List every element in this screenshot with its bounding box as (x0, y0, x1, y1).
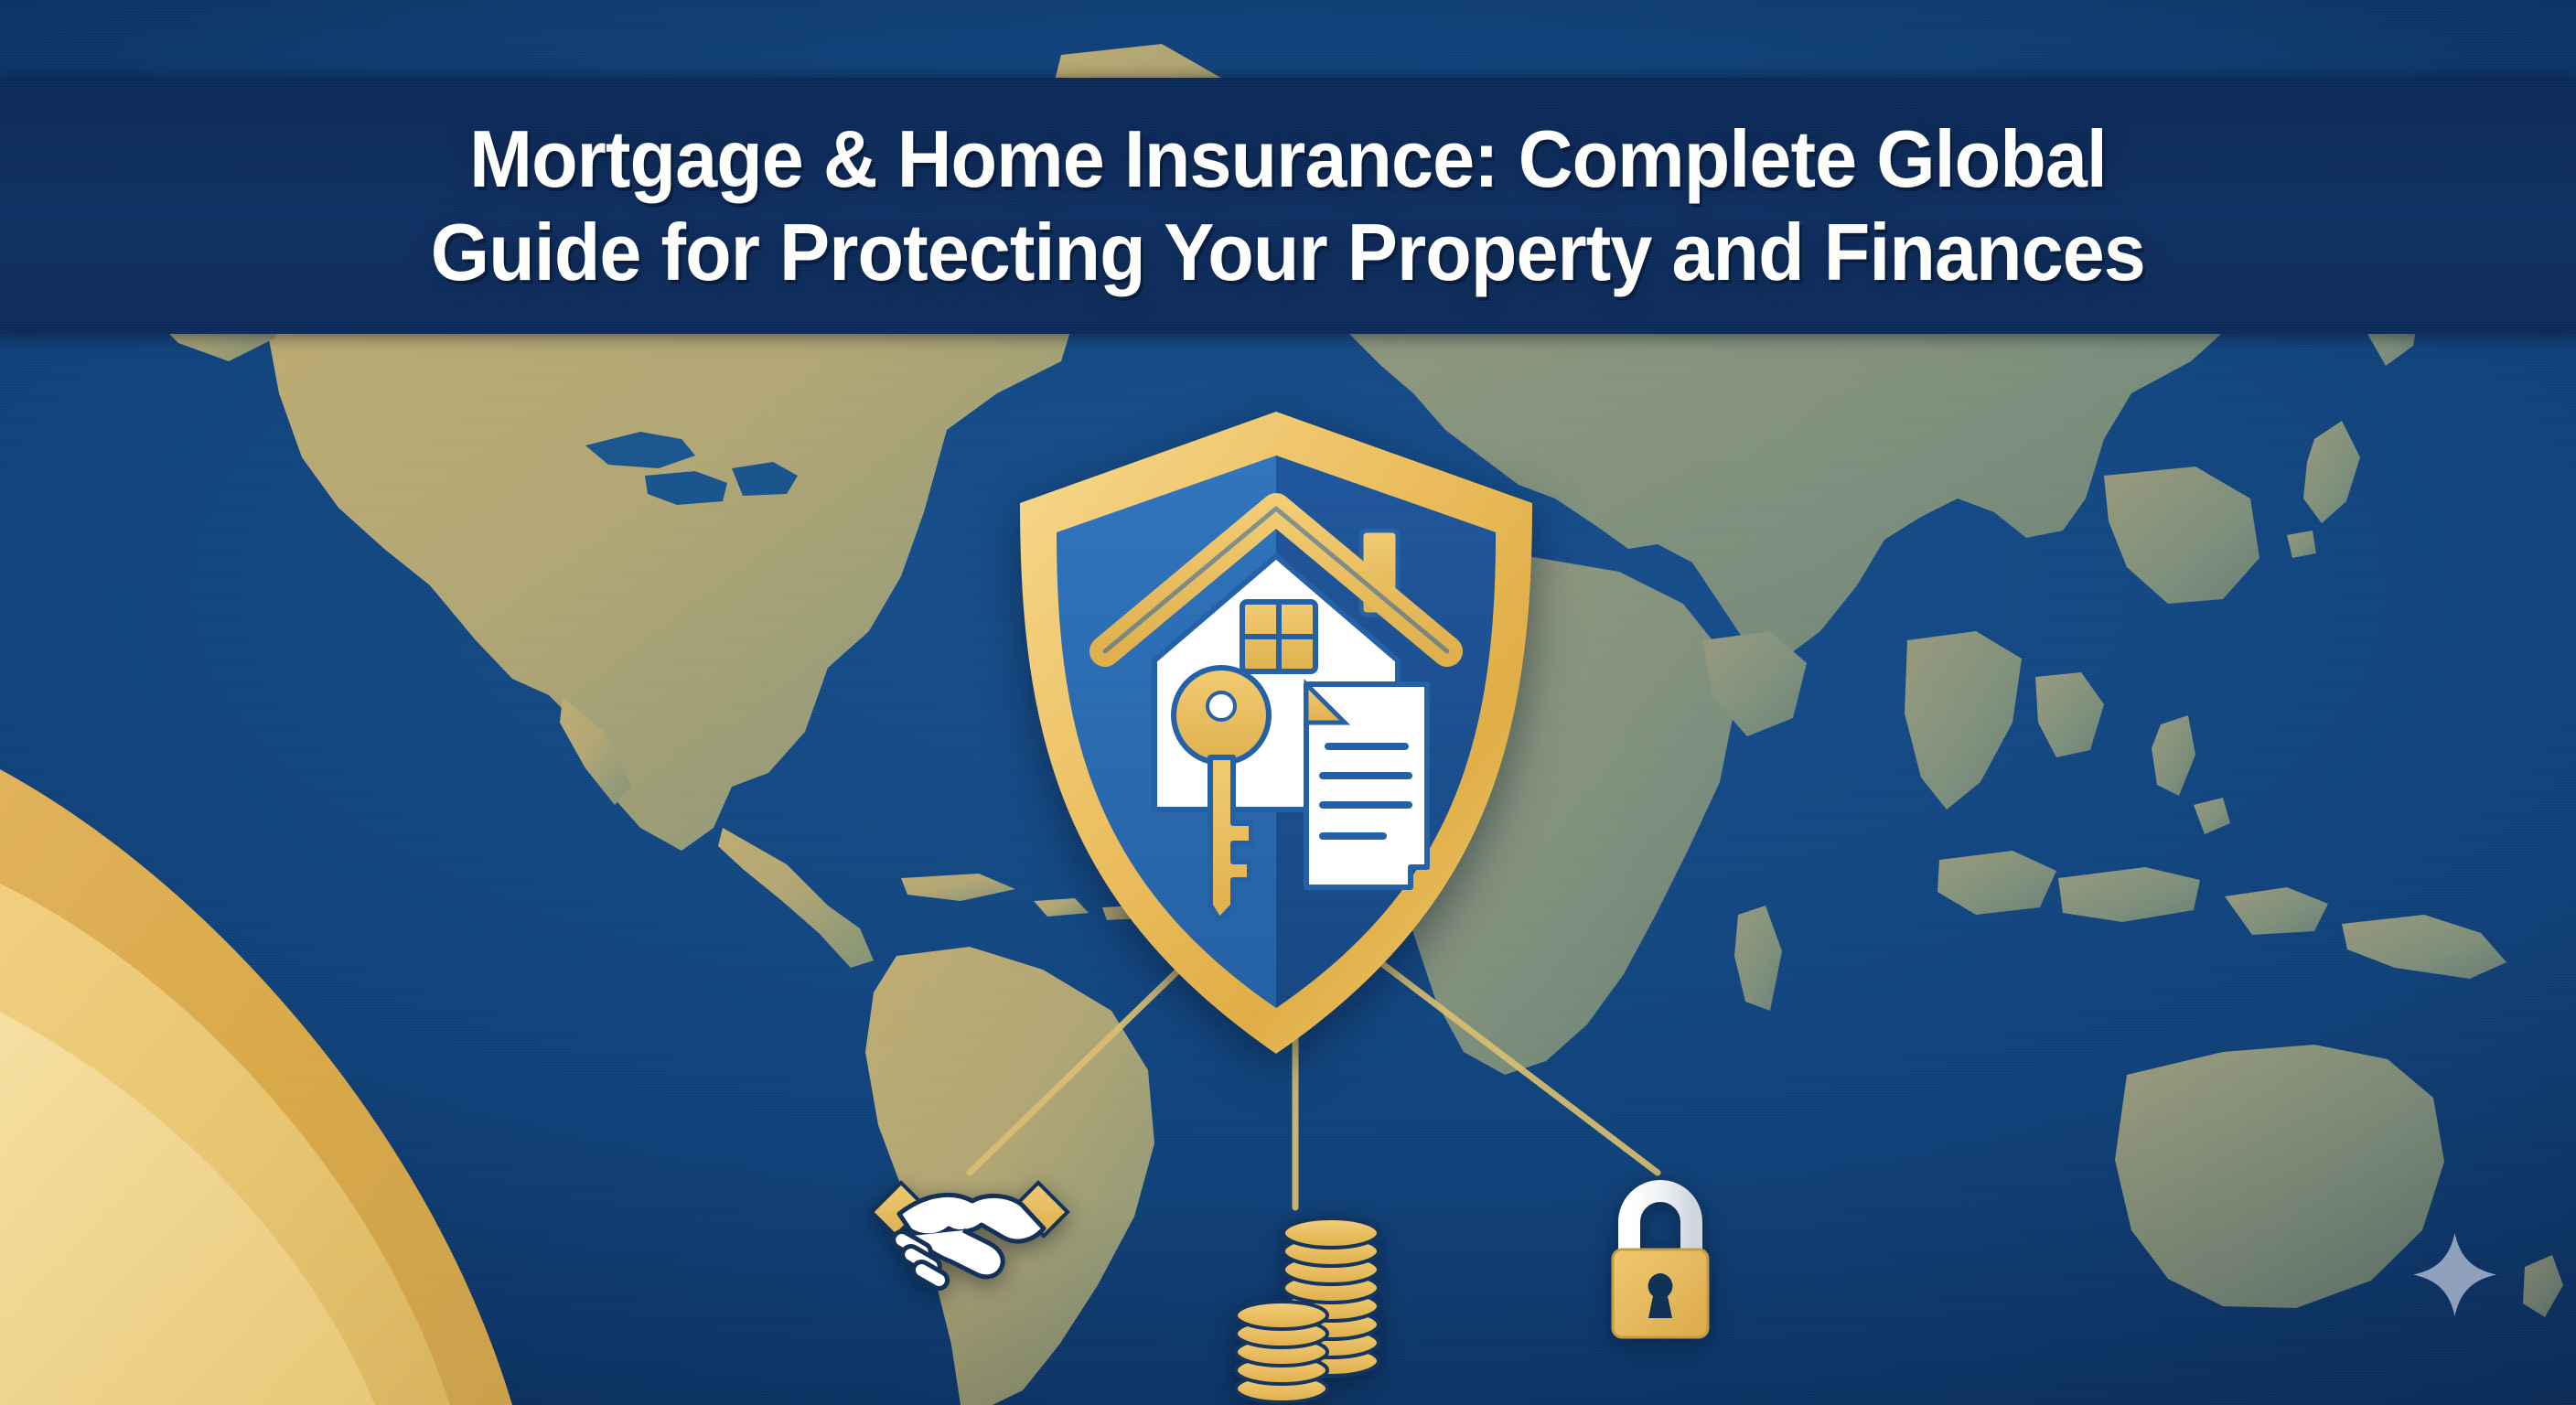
page-title-line-2: Guide for Protecting Your Property and F… (431, 206, 2145, 299)
house-window (1242, 602, 1315, 671)
padlock-shackle (1629, 1191, 1691, 1255)
handshake-icon (864, 1157, 1075, 1317)
title-banner: Mortgage & Home Insurance: Complete Glob… (0, 78, 2576, 334)
page-title-line-1: Mortgage & Home Insurance: Complete Glob… (469, 113, 2107, 206)
protection-shield (997, 393, 1555, 1070)
document-icon (1306, 684, 1427, 887)
sparkle-icon (2411, 1231, 2498, 1318)
coin-stacks-icon (1230, 1207, 1395, 1404)
padlock-icon (1596, 1171, 1724, 1354)
gold-swoosh-arc (0, 582, 823, 1405)
coin-stack-short (1236, 1302, 1327, 1402)
banner-canvas: Mortgage & Home Insurance: Complete Glob… (0, 0, 2576, 1405)
